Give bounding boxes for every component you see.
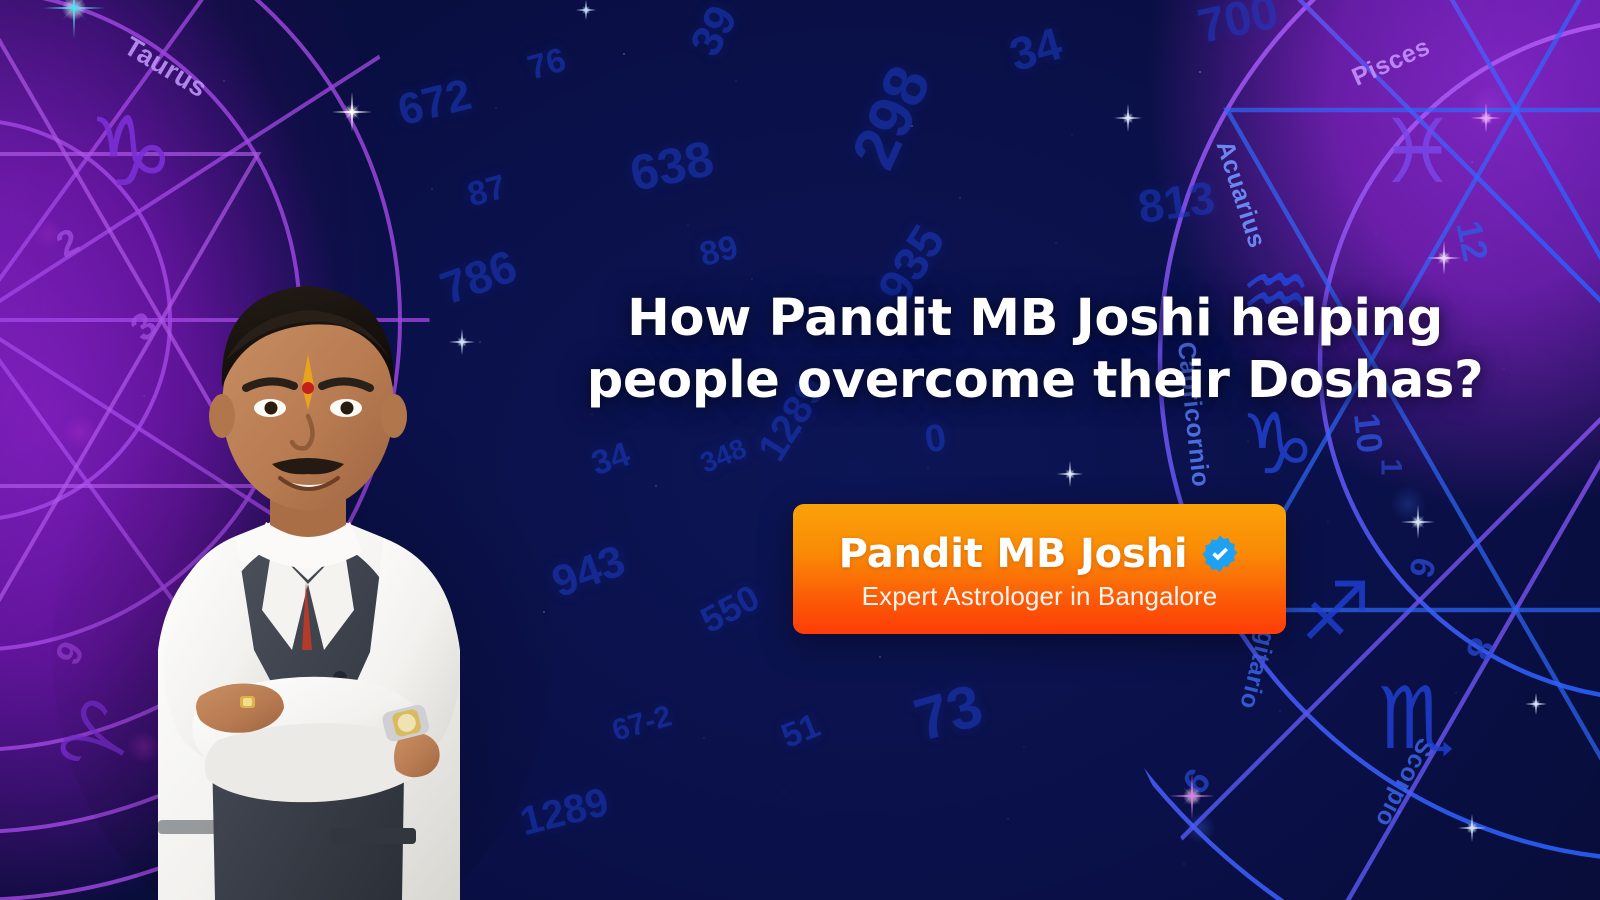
- floating-number: 67-2: [608, 699, 675, 748]
- sparkle-star-icon: [332, 92, 372, 132]
- house-number-8: 8: [1457, 632, 1503, 666]
- astrologer-name-badge[interactable]: Pandit MB Joshi Expert Astrologer in Ban…: [793, 504, 1286, 634]
- capricorn-glyph-icon: ♑: [1240, 402, 1315, 486]
- floating-number: 638: [625, 129, 719, 203]
- house-number-9-right: 9: [1173, 760, 1218, 802]
- sagittarius-glyph-icon: ♐: [1300, 572, 1372, 652]
- floating-number: 39: [681, 0, 748, 64]
- sparkle-star-icon: [1458, 814, 1486, 842]
- floating-number: 348: [696, 432, 751, 479]
- floating-number: 34: [1004, 16, 1068, 82]
- floating-number: 813: [1135, 170, 1219, 234]
- scorpio-glyph-icon: ♏: [1378, 676, 1455, 762]
- sparkle-star-icon: [1401, 505, 1435, 539]
- floating-number: 51: [776, 706, 826, 756]
- floating-number: 34: [587, 435, 635, 484]
- floating-number: 298: [838, 56, 945, 179]
- zodiac-label-aquarius: Acuarius: [1210, 137, 1272, 252]
- floating-number: 672: [393, 70, 476, 136]
- badge-astrologer-name: Pandit MB Joshi: [839, 531, 1188, 577]
- headline: How Pandit MB Joshi helping people overc…: [560, 288, 1510, 412]
- floating-number: 0: [922, 417, 949, 463]
- right-zodiac-wheel: [1060, 0, 1600, 900]
- house-number-12: 12: [1447, 217, 1496, 265]
- sparkle-star-icon: [1471, 103, 1501, 133]
- house-number-10: 10: [1345, 411, 1391, 455]
- sparkle-star-icon: [43, 0, 105, 39]
- floating-number: 76: [523, 41, 570, 89]
- floating-number: 89: [696, 228, 742, 275]
- pisces-glyph-icon: ♓: [1378, 108, 1457, 196]
- sparkle-star-icon: [1114, 104, 1142, 132]
- zodiac-label-taurus: Taurus: [119, 31, 213, 104]
- floating-number: 700: [1193, 0, 1283, 55]
- sparkle-star-icon: [576, 0, 596, 20]
- badge-name-row: Pandit MB Joshi: [839, 531, 1241, 577]
- sparkle-star-icon: [1525, 693, 1547, 715]
- house-number-6: 6: [1400, 554, 1442, 582]
- house-number-1: 1: [1373, 459, 1407, 476]
- verified-check-icon: [1200, 534, 1240, 574]
- zodiac-label-pisces: Pisces: [1348, 33, 1435, 93]
- headline-line-1: How Pandit MB Joshi helping: [627, 289, 1443, 348]
- astrology-promo-banner: ♑ Taurus 2 3 9 ♈: [0, 0, 1600, 900]
- astrologer-portrait: [40, 180, 560, 900]
- floating-number: 73: [907, 670, 990, 755]
- headline-line-2: people overcome their Doshas?: [560, 350, 1510, 412]
- badge-subtitle: Expert Astrologer in Bangalore: [862, 581, 1218, 612]
- floating-number: 550: [694, 576, 767, 641]
- sparkle-star-icon: [1057, 461, 1083, 487]
